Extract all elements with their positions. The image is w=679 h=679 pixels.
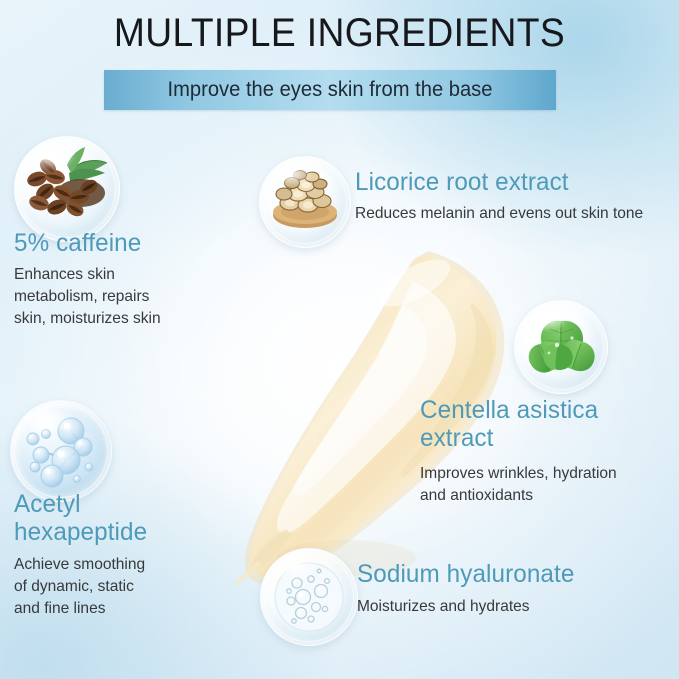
- bubble-gloss: [274, 164, 314, 187]
- water-droplets-gel-icon: [260, 548, 358, 646]
- ingredient-description-sodium-hyaluronate: Moisturizes and hydrates: [357, 596, 648, 618]
- ingredient-heading-sodium-hyaluronate: Sodium hyaluronate: [357, 560, 648, 588]
- ingredient-description-acetyl: Achieve smoothing of dynamic, static and…: [14, 554, 223, 620]
- subtitle-banner-text: Improve the eyes skin from the base: [113, 70, 547, 110]
- page-title: MULTIPLE INGREDIENTS: [24, 8, 655, 58]
- ingredient-description-caffeine: Enhances skin metabolism, repairs skin, …: [14, 264, 223, 330]
- coffee-beans-icon: [14, 136, 120, 242]
- bubble-gloss: [276, 557, 318, 582]
- ingredient-description-licorice: Reduces melanin and evens out skin tone: [355, 203, 665, 225]
- ingredient-heading-caffeine: 5% caffeine: [14, 229, 227, 257]
- ingredient-heading-centella: Centella asistica extract: [420, 396, 663, 452]
- molecule-bubbles-icon: [10, 400, 112, 502]
- licorice-root-slices-icon: [259, 156, 351, 248]
- ingredient-heading-acetyl: Acetyl hexapeptide: [14, 490, 227, 546]
- ingredient-heading-licorice: Licorice root extract: [355, 168, 656, 196]
- subtitle-banner: Improve the eyes skin from the base: [104, 70, 556, 110]
- ingredient-description-centella: Improves wrinkles, hydration and antioxi…: [420, 463, 672, 507]
- ingredients-infographic: MULTIPLE INGREDIENTS Improve the eyes sk…: [0, 0, 679, 679]
- bubble-gloss: [27, 409, 71, 435]
- centella-leaves-icon: [514, 300, 608, 394]
